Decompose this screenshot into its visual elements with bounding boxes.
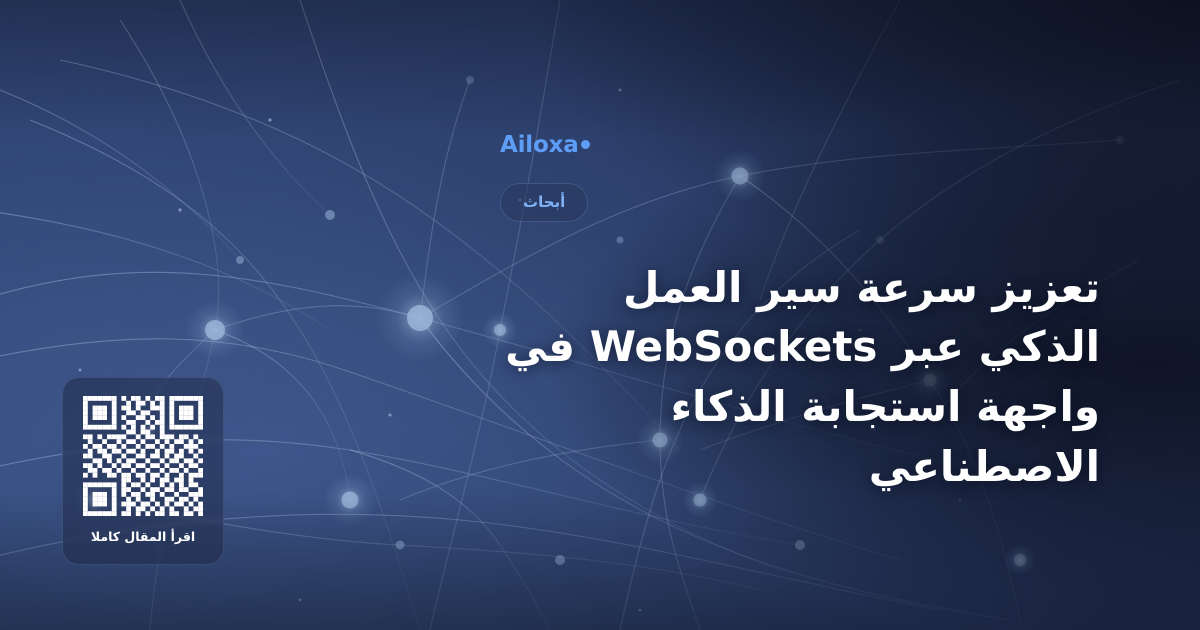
brand-name: Ailoxa (500, 134, 579, 157)
brand-dot-icon (581, 140, 590, 149)
content-column: Ailoxa أبحاث تعزيز سرعة سير العمل الذكي … (500, 0, 1200, 630)
category-badge-label: أبحاث (523, 193, 565, 211)
qr-caption: اقرأ المقال كاملا (91, 529, 195, 544)
qr-card[interactable]: اقرأ المقال كاملا (62, 377, 224, 565)
qr-code-icon (83, 396, 203, 516)
article-title: تعزيز سرعة سير العمل الذكي عبر WebSocket… (500, 258, 1100, 497)
category-badge[interactable]: أبحاث (500, 183, 588, 222)
brand-logo[interactable]: Ailoxa (500, 134, 590, 157)
og-share-card: Ailoxa أبحاث تعزيز سرعة سير العمل الذكي … (0, 0, 1200, 630)
